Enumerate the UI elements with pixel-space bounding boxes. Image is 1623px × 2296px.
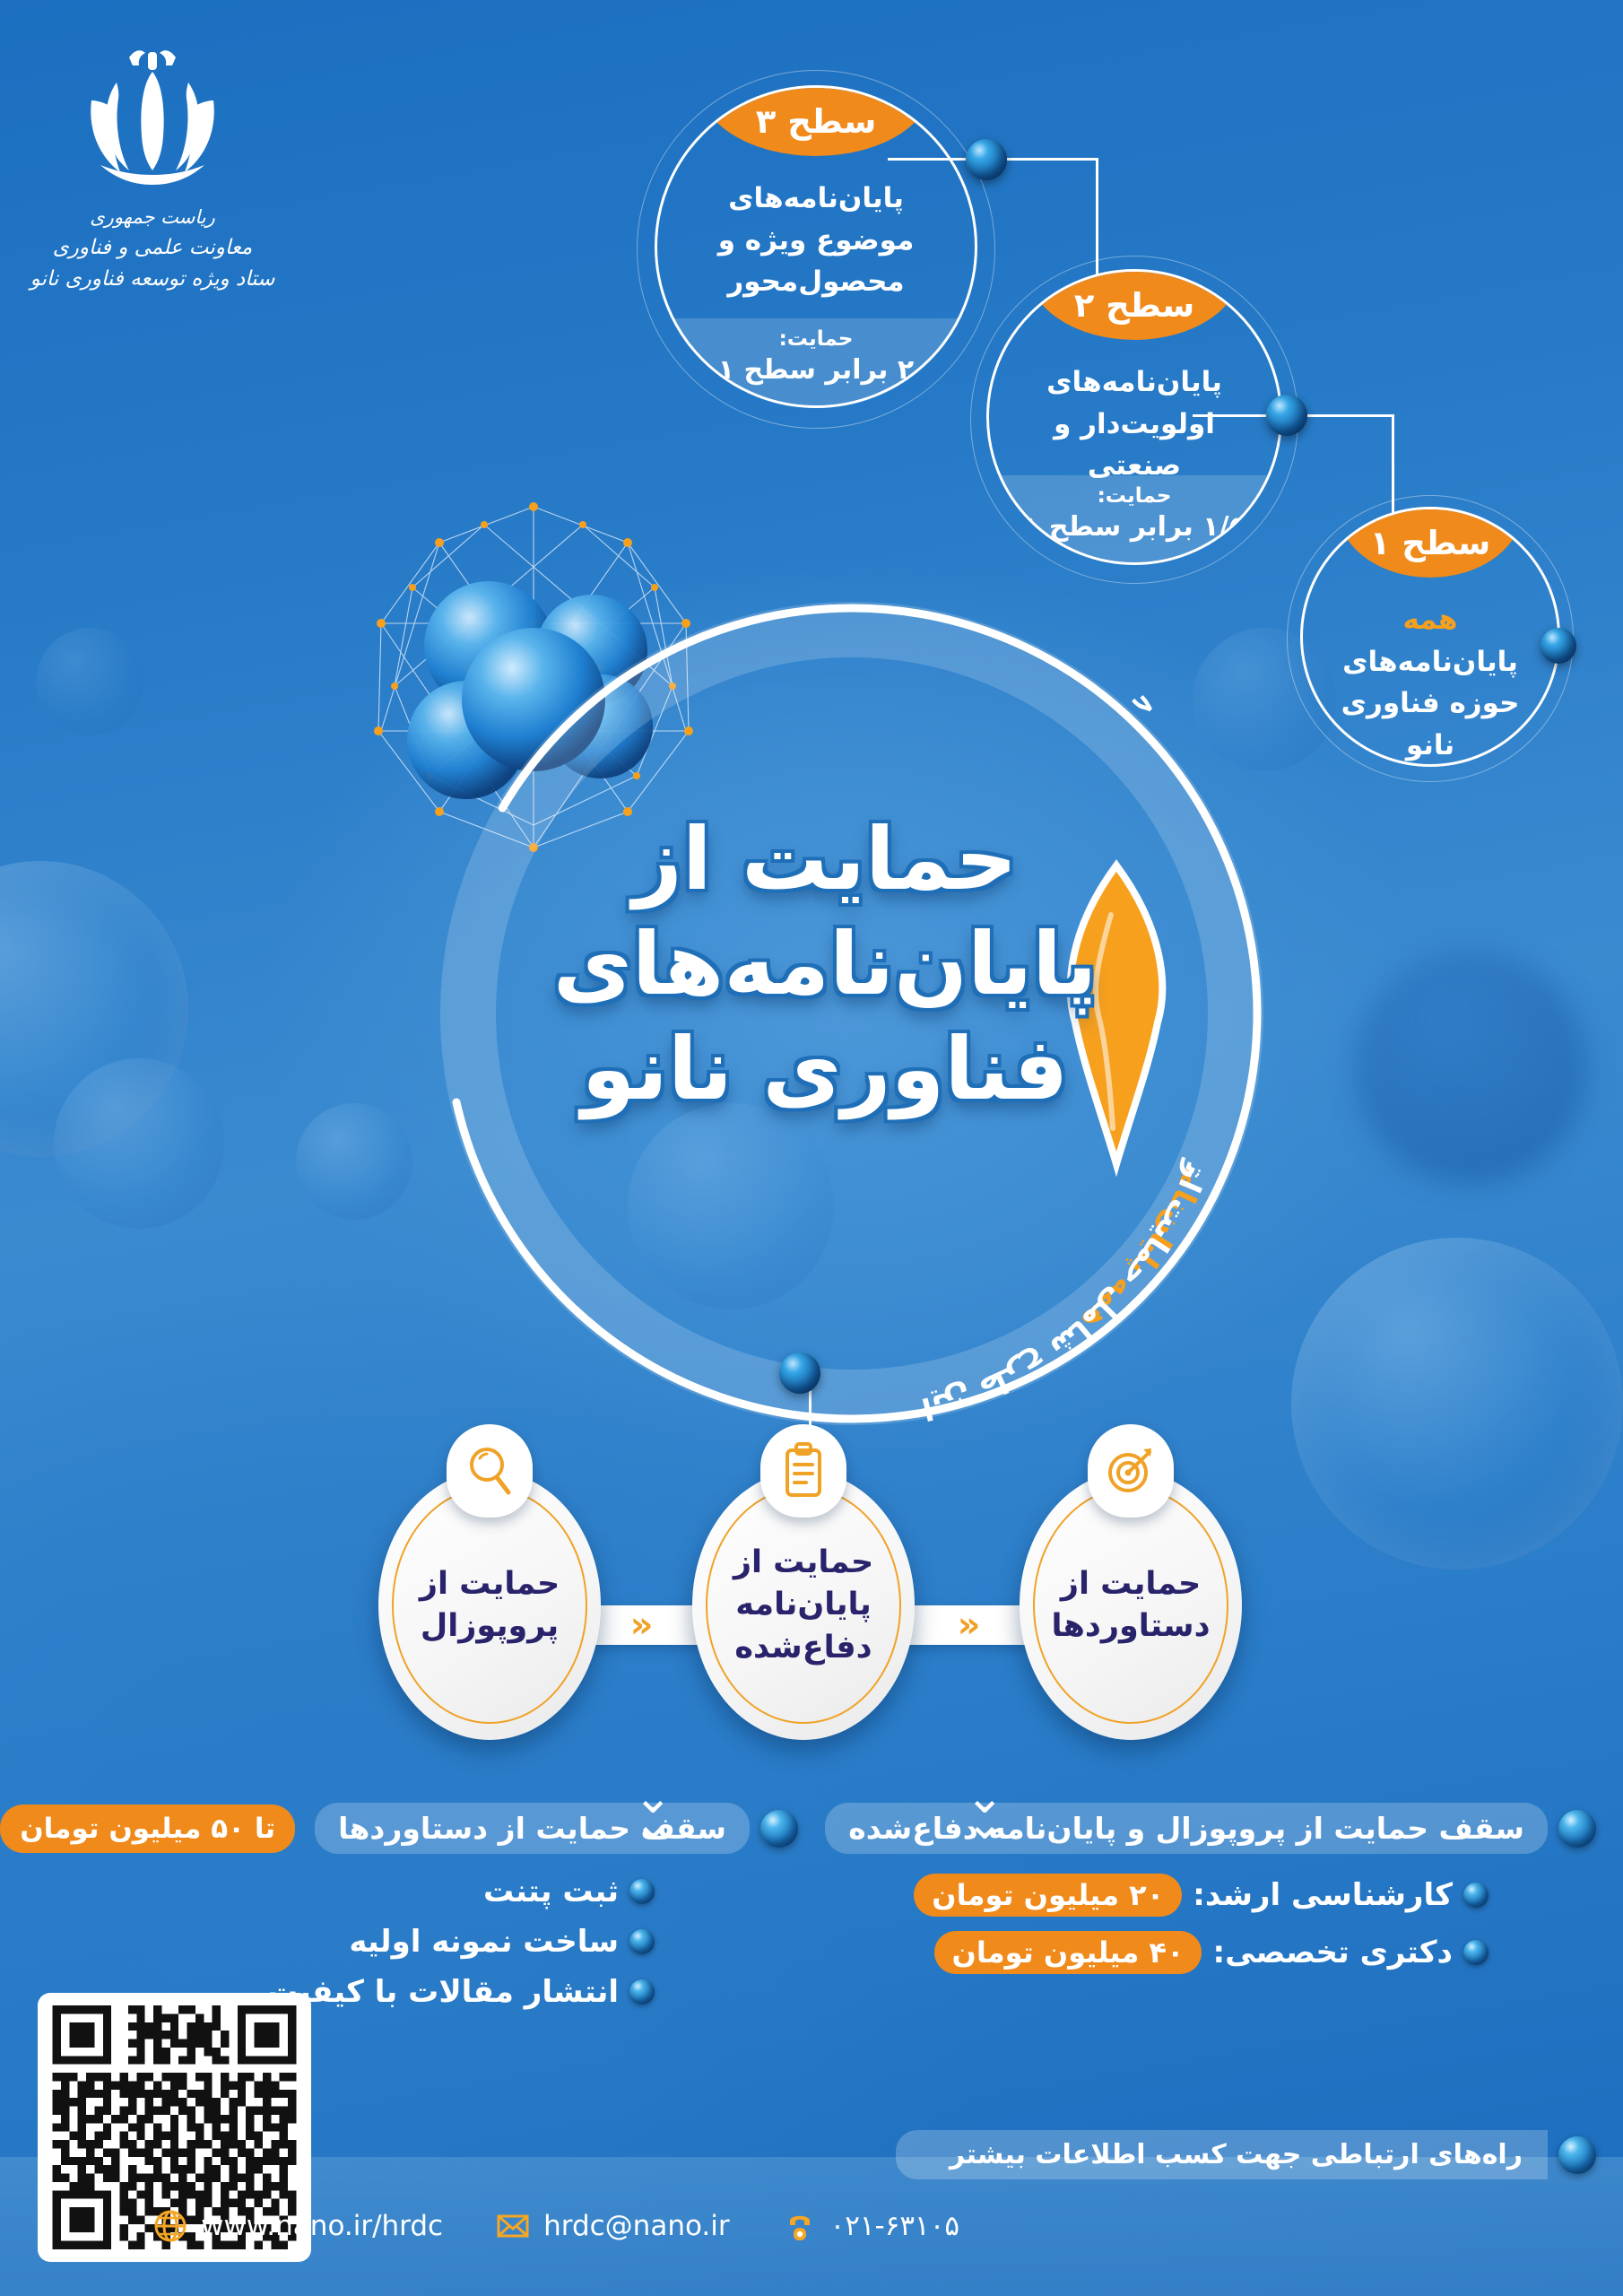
achievement-prototype: ساخت نمونه اولیه <box>349 1924 619 1960</box>
contact-row: www.nano.ir/hrdc hrdc@nano.ir ۰۲۱-۶۳۱۰۵ <box>152 2208 959 2244</box>
info-left-list: ثبت پتنت ساخت نمونه اولیه انتشار مقالات … <box>108 1874 798 2010</box>
sphere-bullet-icon <box>629 1929 655 1954</box>
level-2-body: پایان‌نامه‌های اولویت‌دار و صنعتی <box>989 361 1280 487</box>
sphere-bullet-icon <box>629 1979 655 2005</box>
contact-heading-row: راه‌های ارتباطی جهت کسب اطلاعات بیشتر <box>896 2130 1596 2179</box>
level-3-support-label: حمایت: <box>657 327 975 351</box>
org-line-1: ریاست جمهوری <box>27 203 278 232</box>
clipboard-icon <box>760 1424 846 1518</box>
sphere-bullet-icon <box>1558 1810 1596 1848</box>
telephone-icon <box>782 2208 818 2244</box>
target-icon <box>1088 1424 1174 1518</box>
phone-text: ۰۲۱-۶۳۱۰۵ <box>830 2210 959 2242</box>
level-3-body: پایان‌نامه‌های موضوع ویژه و محصول‌محور <box>657 178 975 303</box>
organization-logo-block: ریاست جمهوری معاونت علمی و فناوری ستاد و… <box>27 36 278 296</box>
process-card-proposal-inner: حمایت از پروپوزال <box>392 1487 587 1724</box>
process-card-achievements[interactable]: حمایت از دستاوردها <box>1020 1471 1242 1740</box>
list-item: کارشناسی ارشد: ۲۰ میلیون تومان <box>807 1874 1488 1917</box>
level-1-body: همه پایان‌نامه‌های حوزه فناوری نانو <box>1303 599 1558 766</box>
achievement-patent: ثبت پتنت <box>483 1874 619 1909</box>
info-column-achievements-ceiling: سقف حمایت از دستاوردها تا ۵۰ میلیون توما… <box>108 1803 798 2024</box>
level-3-support: حمایت: ۲ برابر سطح ۱ <box>657 318 975 405</box>
level-card-1[interactable]: سطح ۱ همه پایان‌نامه‌های حوزه فناوری نان… <box>1300 507 1560 767</box>
decorative-bubble <box>36 628 143 735</box>
info-right-list: کارشناسی ارشد: ۲۰ میلیون تومان دکتری تخص… <box>807 1874 1596 1974</box>
level-card-2[interactable]: سطح ۲ پایان‌نامه‌های اولویت‌دار و صنعتی … <box>986 269 1282 565</box>
sphere-bullet-icon <box>1558 2136 1596 2174</box>
connector-node-1 <box>1541 628 1576 664</box>
level-2-support-value: ۱/۵ برابر سطح ۱ <box>989 511 1280 543</box>
page-title: حمایت از پایان‌نامه‌های فناوری نانو <box>502 807 1148 1122</box>
decorative-bubble <box>1354 951 1587 1184</box>
level-1-badge: سطح ۱ <box>1337 508 1523 578</box>
contact-email[interactable]: hrdc@nano.ir <box>495 2208 730 2244</box>
info-right-heading: سقف حمایت از پروپوزال و پایان‌نامه دفاع‌… <box>825 1803 1548 1854</box>
email-text: hrdc@nano.ir <box>543 2210 730 2242</box>
title-line-3: فناوری نانو <box>502 1017 1148 1122</box>
level-2-support-label: حمایت: <box>989 484 1280 508</box>
achievements-amount-badge: تا ۵۰ میلیون تومان <box>0 1805 295 1853</box>
process-card-proposal-label: حمایت از پروپوزال <box>394 1563 586 1648</box>
info-left-heading: سقف حمایت از دستاوردها <box>315 1803 750 1854</box>
list-item: ساخت نمونه اولیه <box>108 1924 655 1960</box>
svg-text:این طرح شامل حمایت از: این طرح شامل حمایت از <box>918 1156 1215 1427</box>
org-line-3: ستاد ویژه توسعه فناوری نانو <box>27 264 278 296</box>
process-card-proposal[interactable]: حمایت از پروپوزال <box>378 1471 601 1740</box>
org-line-2: معاونت علمی و فناوری <box>27 232 278 265</box>
achievement-articles: انتشار مقالات با کیفیت <box>267 1974 619 2010</box>
masters-amount: ۲۰ میلیون تومان <box>914 1874 1182 1917</box>
level-3-support-value: ۲ برابر سطح ۱ <box>657 354 975 386</box>
info-right-heading-row: سقف حمایت از پروپوزال و پایان‌نامه دفاع‌… <box>807 1803 1596 1854</box>
sphere-bullet-icon <box>1463 1883 1488 1908</box>
level-2-badge: سطح ۲ <box>1028 270 1241 340</box>
sphere-bullet-icon <box>760 1810 798 1848</box>
info-column-support-ceiling: سقف حمایت از پروپوزال و پایان‌نامه دفاع‌… <box>807 1803 1596 1988</box>
list-item: دکتری تخصصی: ۴۰ میلیون تومان <box>807 1931 1488 1974</box>
process-card-achievements-label: حمایت از دستاوردها <box>1035 1563 1227 1648</box>
info-left-heading-row: سقف حمایت از دستاوردها تا ۵۰ میلیون توما… <box>108 1803 798 1854</box>
level-card-3[interactable]: سطح ۳ پایان‌نامه‌های موضوع ویژه و محصول‌… <box>655 85 977 408</box>
process-card-defended-thesis-label: حمایت از پایان‌نامه دفاع‌شده <box>707 1542 899 1669</box>
contact-website[interactable]: www.nano.ir/hrdc <box>152 2208 443 2244</box>
ring-bottom-node <box>779 1352 820 1394</box>
level-3-badge: سطح ۳ <box>700 86 932 156</box>
connector-node-3 <box>966 139 1007 180</box>
masters-label: کارشناسی ارشد: <box>1193 1877 1453 1913</box>
contact-phone[interactable]: ۰۲۱-۶۳۱۰۵ <box>782 2208 959 2244</box>
phd-label: دکتری تخصصی: <box>1212 1935 1453 1970</box>
globe-icon <box>152 2208 188 2244</box>
process-cards-row: حمایت از پروپوزال حمایت از پایان‌نامه دف… <box>0 1471 1623 1776</box>
connector-node-2 <box>1266 395 1307 436</box>
connector-line-3-2-v <box>1096 158 1098 276</box>
phd-amount: ۴۰ میلیون تومان <box>934 1931 1202 1974</box>
decorative-bubble <box>296 1103 412 1220</box>
title-line-2: پایان‌نامه‌های <box>502 912 1148 1017</box>
sphere-bullet-icon <box>1463 1940 1488 1965</box>
process-card-defended-thesis-inner: حمایت از پایان‌نامه دفاع‌شده <box>706 1487 901 1724</box>
decorative-bubble <box>54 1058 224 1229</box>
contact-heading: راه‌های ارتباطی جهت کسب اطلاعات بیشتر <box>896 2130 1548 2179</box>
magnifier-icon <box>447 1424 533 1518</box>
envelope-icon <box>495 2208 531 2244</box>
process-card-achievements-inner: حمایت از دستاوردها <box>1033 1487 1228 1724</box>
list-item: ثبت پتنت <box>108 1874 655 1909</box>
process-card-defended-thesis[interactable]: حمایت از پایان‌نامه دفاع‌شده <box>692 1471 915 1740</box>
sphere-bullet-icon <box>629 1879 655 1904</box>
iran-national-emblem-icon <box>63 36 242 197</box>
level-1-body-highlight: همه <box>1402 604 1457 636</box>
level-1-body-rest: پایان‌نامه‌های حوزه فناوری نانو <box>1341 646 1520 761</box>
level-2-support: حمایت: ۱/۵ برابر سطح ۱ <box>989 475 1280 562</box>
title-line-1: حمایت از <box>502 807 1148 912</box>
website-text: www.nano.ir/hrdc <box>201 2210 443 2242</box>
